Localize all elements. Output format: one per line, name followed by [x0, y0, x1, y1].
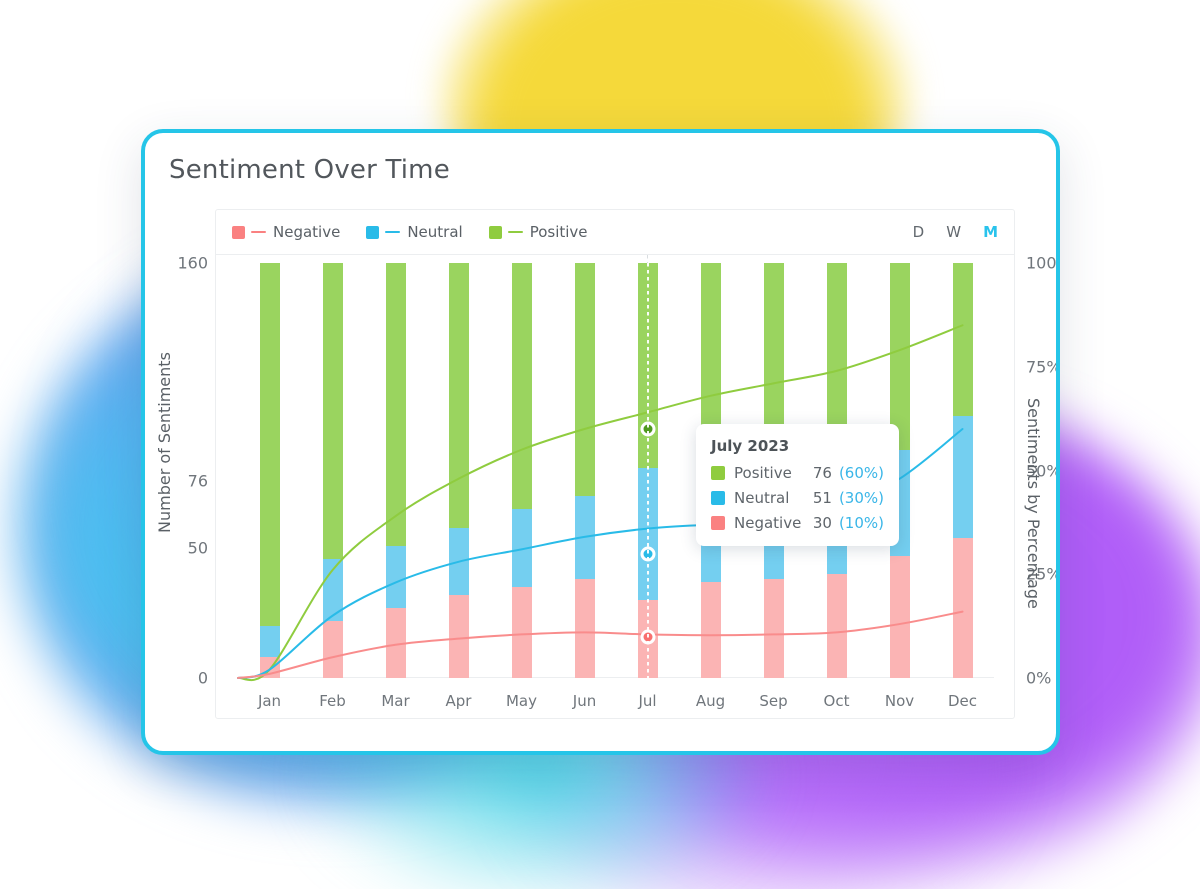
range-button-week[interactable]: W: [946, 223, 961, 241]
x-axis-tick-may: May: [506, 692, 537, 710]
x-axis-tick-oct: Oct: [824, 692, 850, 710]
legend-swatch-positive-icon: [489, 226, 502, 239]
chart-legend-bar: Negative Neutral Positive D W M: [216, 210, 1014, 255]
screenshot-root: Sentiment Over Time Negative Neutral Pos…: [0, 0, 1200, 889]
legend-line-positive-icon: [508, 231, 523, 234]
tooltip-swatch-positive-icon: [711, 466, 725, 480]
y-axis-left-tick-0: 0: [198, 669, 208, 688]
page-title: Sentiment Over Time: [169, 155, 450, 185]
tooltip-label: Positive: [734, 464, 807, 482]
y-axis-left-tick-76: 76: [188, 471, 208, 490]
legend-item-neutral[interactable]: Neutral: [366, 223, 462, 241]
legend-line-neutral-icon: [385, 231, 400, 234]
y-axis-left-tick-50: 50: [188, 539, 208, 558]
tooltip-row-positive: Positive76(60%): [711, 464, 884, 482]
range-button-month[interactable]: M: [983, 223, 998, 241]
tooltip-label: Neutral: [734, 489, 807, 507]
trend-line-negative: [238, 612, 963, 678]
legend-swatch-negative-icon: [232, 226, 245, 239]
tooltip-percent: (60%): [839, 464, 884, 482]
x-axis-tick-jul: Jul: [638, 692, 656, 710]
chart-tooltip: July 2023 Positive76(60%)Neutral51(30%)N…: [696, 424, 899, 546]
tooltip-percent: (10%): [839, 514, 884, 532]
x-axis-tick-dec: Dec: [948, 692, 977, 710]
range-selector: D W M: [891, 223, 998, 241]
legend-swatch-neutral-icon: [366, 226, 379, 239]
tooltip-title: July 2023: [711, 437, 884, 455]
x-axis-tick-jan: Jan: [258, 692, 281, 710]
y-axis-left-tick-160: 160: [177, 254, 208, 273]
legend-item-negative[interactable]: Negative: [232, 223, 340, 241]
tooltip-swatch-negative-icon: [711, 516, 725, 530]
hover-guideline: [647, 263, 649, 678]
x-axis-tick-nov: Nov: [885, 692, 914, 710]
x-axis-tick-aug: Aug: [696, 692, 725, 710]
tooltip-value: 76: [807, 464, 832, 482]
x-axis-tick-jun: Jun: [573, 692, 596, 710]
sentiment-chart-card: Sentiment Over Time Negative Neutral Pos…: [141, 129, 1060, 755]
x-axis-tick-sep: Sep: [759, 692, 787, 710]
legend-label-neutral: Neutral: [407, 223, 462, 241]
range-button-day[interactable]: D: [913, 223, 925, 241]
tooltip-value: 30: [807, 514, 832, 532]
legend-item-positive[interactable]: Positive: [489, 223, 588, 241]
x-axis-tick-feb: Feb: [319, 692, 346, 710]
y-axis-right-tick-75pct: 75%: [1026, 357, 1060, 376]
tooltip-row-neutral: Neutral51(30%): [711, 489, 884, 507]
y-axis-right-title: Sentiments by Percentage: [1024, 398, 1043, 609]
x-axis-tick-mar: Mar: [381, 692, 409, 710]
y-axis-right-tick-100pct: 100%: [1026, 254, 1060, 273]
x-axis-tick-apr: Apr: [446, 692, 472, 710]
legend-line-negative-icon: [251, 231, 266, 234]
tooltip-percent: (30%): [839, 489, 884, 507]
tooltip-value: 51: [807, 489, 832, 507]
legend-label-positive: Positive: [530, 223, 588, 241]
tooltip-rows: Positive76(60%)Neutral51(30%)Negative30(…: [711, 464, 884, 532]
hover-guideline-upper: [647, 255, 648, 263]
tooltip-swatch-neutral-icon: [711, 491, 725, 505]
y-axis-right-tick-0pct: 0%: [1026, 669, 1051, 688]
y-axis-left-title: Number of Sentiments: [155, 352, 174, 533]
tooltip-row-negative: Negative30(10%): [711, 514, 884, 532]
legend-label-negative: Negative: [273, 223, 340, 241]
tooltip-label: Negative: [734, 514, 807, 532]
